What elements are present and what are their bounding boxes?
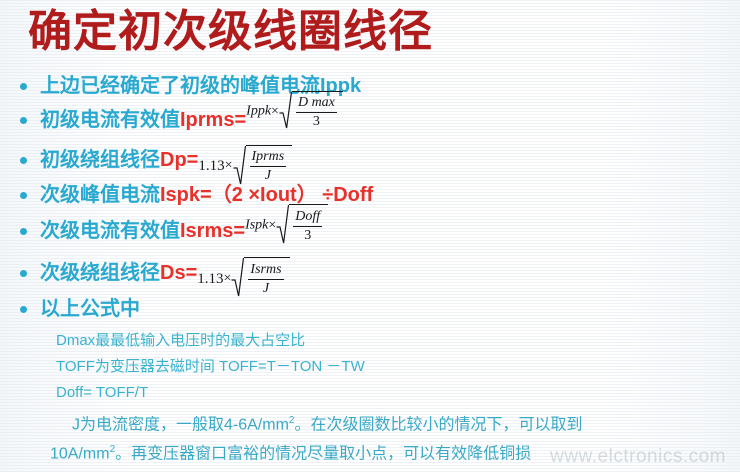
- note-line-2-a: 10A/mm: [50, 446, 110, 463]
- note-line-1-b: 。在次级圈数比较小的情况下，可以取到: [294, 416, 582, 433]
- sqrt-doff-over-3: Doff3: [276, 204, 328, 247]
- sqrt-dmax-over-3: D max3: [279, 91, 343, 132]
- bullet-dot-icon: [20, 228, 27, 235]
- bullet-dot-icon: [20, 157, 27, 164]
- fraction-numerator: D max: [296, 95, 337, 113]
- bullet-item-iprms: 初级电流有效值Iprms=Ippk× D max3: [14, 100, 726, 140]
- radical-sign-icon: [276, 204, 289, 247]
- page-title: 确定初次级线圈线径: [28, 2, 433, 62]
- note-line-1: J为电流密度，一般取4-6A/mm2。在次级圈数比较小的情况下，可以取到: [50, 408, 740, 437]
- bullet-dot-icon: [20, 83, 27, 90]
- fraction-numerator: Iprms: [250, 149, 287, 167]
- definition-toff: TOFF为变压器去磁时间 TOFF=T－TON －TW: [56, 354, 728, 380]
- fraction-isrms-j: IsrmsJ: [246, 261, 285, 296]
- bullet-text-ispk: 次级峰值电流: [40, 184, 160, 206]
- fraction-denominator: 3: [296, 113, 337, 130]
- bullet-list: 上边已经确定了初级的峰值电流Ippk 初级电流有效值Iprms=Ippk× D …: [14, 72, 726, 324]
- bullet-dot-icon: [20, 270, 27, 277]
- radicand-doff-3: Doff3: [289, 204, 328, 247]
- bullet-item-ispk: 次级峰值电流Ispk=（2 ×Iout） ÷Doff: [14, 180, 726, 210]
- formula-ispk: Ispk=（2 ×Iout） ÷Doff: [160, 184, 373, 206]
- bullet-item-notes-heading: 以上公式中: [14, 294, 726, 324]
- bullet-text-ds: 次级绕组线径: [40, 262, 160, 284]
- fraction-iprms-j: IprmsJ: [248, 148, 289, 183]
- slide-canvas: 确定初次级线圈线径 上边已经确定了初级的峰值电流Ippk 初级电流有效值Iprm…: [0, 0, 740, 472]
- formula-iprms: Ippk× D max3: [246, 91, 343, 132]
- bullet-item-dp: 初级绕组线径Dp=1.13× IprmsJ: [14, 140, 726, 180]
- bullet-item-ippk: 上边已经确定了初级的峰值电流Ippk: [14, 72, 726, 100]
- radicand-dmax-3: D max3: [292, 91, 343, 132]
- fraction-numerator: Doff: [293, 209, 322, 227]
- times-symbol: ×: [271, 92, 279, 132]
- note-line-2-b: 。再变压器窗口富裕的情况尽量取小点，可以有效降低铜损: [115, 446, 531, 463]
- bullet-text-iprms: 初级电流有效值: [40, 109, 180, 131]
- fraction-doff-3: Doff3: [291, 208, 324, 243]
- bullet-dot-icon: [20, 117, 27, 124]
- formula-lead-ispk: Ispk: [245, 218, 268, 233]
- bullet-item-ds: 次级绕组线径Ds=1.13× IsrmsJ: [14, 252, 726, 294]
- bullet-item-isrms: 次级电流有效值Isrms=Ispk× Doff3: [14, 210, 726, 252]
- formula-isrms: Ispk× Doff3: [245, 204, 328, 247]
- formula-lead-ippk: Ippk: [246, 104, 271, 119]
- fraction-denominator: 3: [293, 227, 322, 244]
- bullet-text-notes-heading: 以上公式中: [40, 298, 140, 320]
- definition-doff: Doff= TOFF/T: [56, 380, 728, 406]
- bullet-text-isrms: 次级电流有效值: [40, 220, 180, 242]
- definition-list: Dmax最最低输入电压时的最大占空比 TOFF为变压器去磁时间 TOFF=T－T…: [56, 328, 728, 406]
- formula-label-iprms: Iprms=: [180, 109, 246, 131]
- bullet-dot-icon: [20, 306, 27, 313]
- times-symbol: ×: [268, 205, 276, 247]
- formula-label-ds: Ds=: [160, 262, 197, 284]
- watermark: www.elctronics.com: [550, 446, 726, 468]
- formula-label-isrms: Isrms=: [180, 220, 245, 242]
- note-line-1-a: J为电流密度，一般取4-6A/mm: [72, 416, 289, 433]
- bullet-text-dp: 初级绕组线径: [40, 149, 160, 171]
- fraction-numerator: Isrms: [248, 262, 283, 280]
- radical-sign-icon: [279, 91, 292, 132]
- bullet-dot-icon: [20, 192, 27, 199]
- definition-dmax: Dmax最最低输入电压时的最大占空比: [56, 328, 728, 354]
- formula-label-dp: Dp=: [160, 149, 198, 171]
- fraction-dmax-3: D max3: [294, 94, 339, 129]
